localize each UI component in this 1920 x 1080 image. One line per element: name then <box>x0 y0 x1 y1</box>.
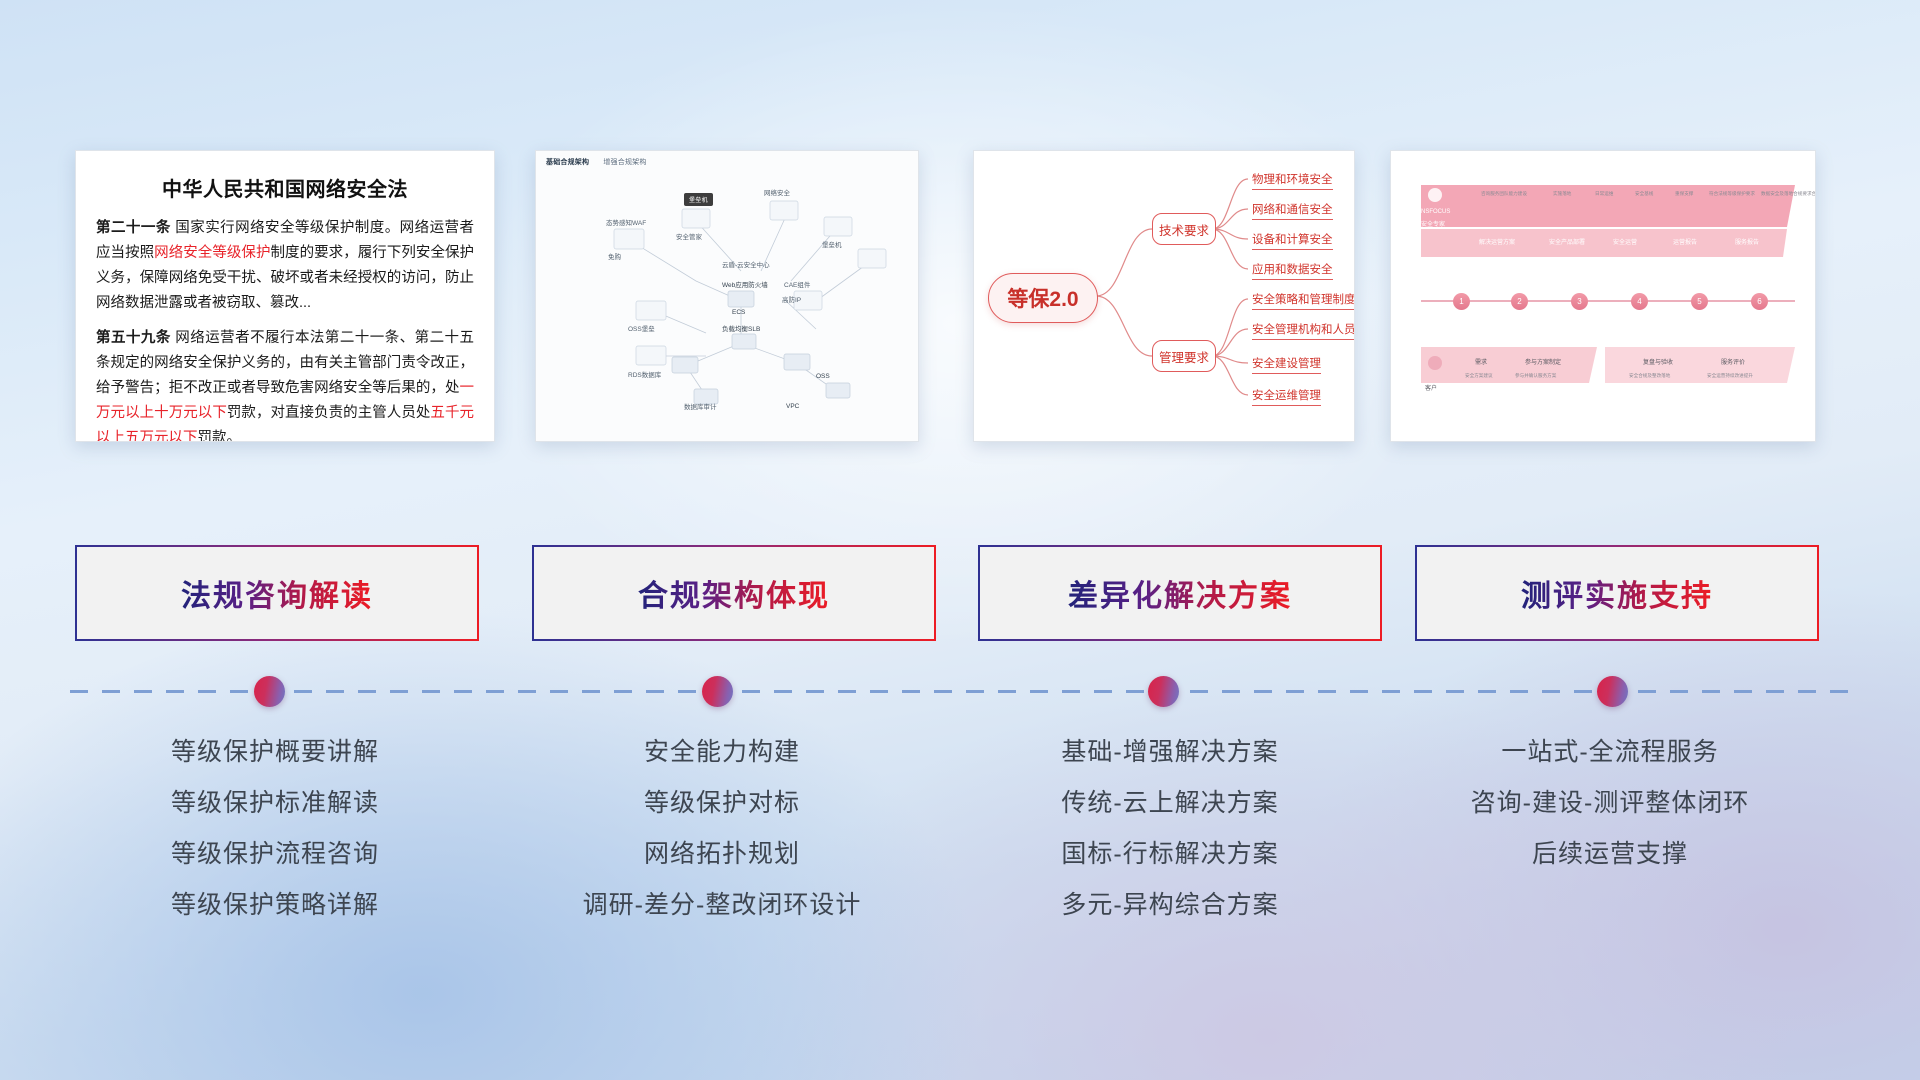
architecture-connectors <box>536 151 918 441</box>
mindmap-leaf-mgmt-1: 安全管理机构和人员 <box>1252 321 1355 340</box>
list-item: 等级保护策略详解 <box>65 893 485 918</box>
roadmap-step-3: 3 <box>1571 293 1588 310</box>
slide-canvas: 中华人民共和国网络安全法 第二十一条 国家实行网络安全等级保护制度。网络运营者应… <box>0 0 1920 1080</box>
law-paragraph-21: 第二十一条 国家实行网络安全等级保护制度。网络运营者应当按照网络安全等级保护制度… <box>96 216 474 316</box>
timeline-dot-1[interactable] <box>254 676 285 707</box>
timeline-dashed-line <box>70 690 1850 693</box>
card-cybersecurity-law[interactable]: 中华人民共和国网络安全法 第二十一条 国家实行网络安全等级保护制度。网络运营者应… <box>75 150 495 442</box>
roadmap-step-4: 4 <box>1631 293 1648 310</box>
timeline-dot-2[interactable] <box>702 676 733 707</box>
law-article-21-highlight: 网络安全等级保护 <box>154 245 270 261</box>
card-compliance-architecture[interactable]: 基础合规架构 增强合规架构 <box>535 150 919 442</box>
section-header-assessment-support[interactable]: 测评实施支持 <box>1415 545 1819 641</box>
section-header-compliance-architecture-label: 合规架构体现 <box>638 571 830 615</box>
list-item: 等级保护对标 <box>512 791 932 816</box>
law-article-59-text-c: 罚款。 <box>198 430 242 443</box>
mindmap-branch-management: 管理要求 <box>1152 340 1216 372</box>
roadmap-top-item-4: 重保支撑 <box>1675 191 1693 197</box>
roadmap-step-1: 1 <box>1453 293 1470 310</box>
law-article-59-label: 第五十九条 <box>96 330 171 346</box>
list-item: 调研-差分-整改闭环设计 <box>512 893 932 918</box>
detail-list-differentiated-solutions: 基础-增强解决方案 传统-云上解决方案 国标-行标解决方案 多元-异构综合方案 <box>960 740 1380 944</box>
mindmap-leaf-mgmt-0: 安全策略和管理制度 <box>1252 291 1355 310</box>
roadmap-mid-item-1: 安全产品部署 <box>1549 237 1585 246</box>
architecture-node-label-11: RDS数据库 <box>628 369 661 379</box>
roadmap-top-item-0: 咨询服务团队能力建设 <box>1481 191 1527 197</box>
mindmap-diagram: 等保2.0 技术要求 管理要求 物理和环境安全 网络和通信安全 设备和计算安全 … <box>974 151 1354 441</box>
section-header-compliance-architecture[interactable]: 合规架构体现 <box>532 545 936 641</box>
architecture-node-label-8: CAE组件 <box>784 279 810 289</box>
list-item: 咨询-建设-测评整体闭环 <box>1400 791 1820 816</box>
architecture-node-label-5: Web应用防火墙 <box>722 279 768 289</box>
roadmap-bottom-item-1: 参与方案制定 <box>1525 357 1561 366</box>
roadmap-step-6: 6 <box>1751 293 1768 310</box>
roadmap-top-item-1: 实施落地 <box>1553 191 1571 197</box>
card-service-roadmap[interactable]: NSFOCUS 安全专家 客户 咨询服务团队能力建设 实施落地 日常运维 安全基… <box>1390 150 1816 442</box>
roadmap-top-item-6: 数据安全及落地合规要求合规建设 <box>1761 191 1816 197</box>
list-item: 等级保护概要讲解 <box>65 740 485 765</box>
architecture-banner: 堡垒机 <box>684 193 713 206</box>
roadmap-step-2: 2 <box>1511 293 1528 310</box>
list-item: 基础-增强解决方案 <box>960 740 1380 765</box>
timeline-dot-4[interactable] <box>1597 676 1628 707</box>
section-header-differentiated-solutions-label: 差异化解决方案 <box>1068 571 1292 615</box>
architecture-node-label-9: 高防IP <box>782 294 801 304</box>
list-item: 多元-异构综合方案 <box>960 893 1380 918</box>
roadmap-mid-item-2: 安全运营 <box>1613 237 1637 246</box>
roadmap-diagram: NSFOCUS 安全专家 客户 咨询服务团队能力建设 实施落地 日常运维 安全基… <box>1391 151 1815 441</box>
law-article-21-label: 第二十一条 <box>96 220 171 236</box>
roadmap-bottom-tiny-0: 安全方案建议 <box>1465 373 1493 379</box>
mindmap-leaf-tech-1: 网络和通信安全 <box>1252 201 1333 220</box>
card-mindmap-dengbao[interactable]: 等保2.0 技术要求 管理要求 物理和环境安全 网络和通信安全 设备和计算安全 … <box>973 150 1355 442</box>
roadmap-brand: NSFOCUS <box>1421 209 1450 215</box>
architecture-node-label-3: 态势感知WAF <box>606 217 646 227</box>
architecture-node-label-10: OSS堡垒 <box>628 323 655 333</box>
list-item: 后续运营支撑 <box>1400 842 1820 867</box>
detail-list-assessment-support: 一站式-全流程服务 咨询-建设-测评整体闭环 后续运营支撑 <box>1400 740 1820 893</box>
roadmap-customer-label: 客户 <box>1425 383 1437 392</box>
section-header-legal-consulting-label: 法规咨询解读 <box>181 571 373 615</box>
list-item: 一站式-全流程服务 <box>1400 740 1820 765</box>
roadmap-mid-item-3: 运营报告 <box>1673 237 1697 246</box>
mindmap-branch-technical: 技术要求 <box>1152 213 1216 245</box>
section-header-assessment-support-label: 测评实施支持 <box>1521 571 1713 615</box>
architecture-node-label-13: VPC <box>786 403 799 410</box>
mindmap-leaf-tech-2: 设备和计算安全 <box>1252 231 1333 250</box>
law-title: 中华人民共和国网络安全法 <box>96 173 474 202</box>
mindmap-leaf-tech-3: 应用和数据安全 <box>1252 261 1333 280</box>
architecture-node-label-4: 堡垒机 <box>822 239 842 249</box>
roadmap-bottom-item-0: 需求 <box>1475 357 1487 366</box>
roadmap-top-item-3: 安全基线 <box>1635 191 1653 197</box>
architecture-node-label-7: 负载均衡SLB <box>722 323 760 333</box>
roadmap-top-item-2: 日常运维 <box>1595 191 1613 197</box>
section-header-differentiated-solutions[interactable]: 差异化解决方案 <box>978 545 1382 641</box>
mindmap-leaf-mgmt-2: 安全建设管理 <box>1252 355 1321 374</box>
roadmap-brand-sub: 安全专家 <box>1421 219 1445 228</box>
roadmap-bottom-tiny-3: 安全运营持续改进提升 <box>1707 373 1753 379</box>
section-header-legal-consulting[interactable]: 法规咨询解读 <box>75 545 479 641</box>
detail-list-compliance-architecture: 安全能力构建 等级保护对标 网络拓扑规划 调研-差分-整改闭环设计 <box>512 740 932 944</box>
list-item: 传统-云上解决方案 <box>960 791 1380 816</box>
list-item: 国标-行标解决方案 <box>960 842 1380 867</box>
architecture-node-label-14: 数据库审计 <box>684 401 717 411</box>
roadmap-bottom-tiny-1: 参与并确认服务方案 <box>1515 373 1556 379</box>
preview-cards-row: 中华人民共和国网络安全法 第二十一条 国家实行网络安全等级保护制度。网络运营者应… <box>0 150 1920 450</box>
roadmap-mid-item-0: 解决运营方案 <box>1479 237 1515 246</box>
list-item: 安全能力构建 <box>512 740 932 765</box>
architecture-node-label-12: OSS <box>816 373 830 380</box>
architecture-node-label-0: 免购 <box>608 251 621 261</box>
timeline <box>0 672 1920 712</box>
roadmap-bottom-item-3: 服务评价 <box>1721 357 1745 366</box>
architecture-node-label-6: ECS <box>732 309 745 316</box>
roadmap-top-item-5: 符合法规等级保护要求 <box>1709 191 1755 197</box>
section-headers-row: 法规咨询解读 合规架构体现 差异化解决方案 测评实施支持 <box>0 545 1920 640</box>
roadmap-step-5: 5 <box>1691 293 1708 310</box>
list-item: 等级保护流程咨询 <box>65 842 485 867</box>
timeline-dot-3[interactable] <box>1148 676 1179 707</box>
architecture-node-label-15: 云盾-云安全中心 <box>722 259 770 269</box>
law-paragraph-59: 第五十九条 网络运营者不履行本法第二十一条、第二十五条规定的网络安全保护义务的，… <box>96 326 474 442</box>
mindmap-root: 等保2.0 <box>988 273 1098 323</box>
roadmap-bottom-item-2: 复盘与验收 <box>1643 357 1673 366</box>
law-text-block: 中华人民共和国网络安全法 第二十一条 国家实行网络安全等级保护制度。网络运营者应… <box>76 151 494 442</box>
mindmap-leaf-mgmt-3: 安全运维管理 <box>1252 387 1321 406</box>
architecture-node-label-2: 网络安全 <box>764 187 790 197</box>
roadmap-mid-item-4: 服务报告 <box>1735 237 1759 246</box>
list-item: 网络拓扑规划 <box>512 842 932 867</box>
architecture-diagram: 基础合规架构 增强合规架构 <box>536 151 918 441</box>
architecture-node-label-1: 安全管家 <box>676 231 702 241</box>
mindmap-leaf-tech-0: 物理和环境安全 <box>1252 171 1333 190</box>
detail-list-legal-consulting: 等级保护概要讲解 等级保护标准解读 等级保护流程咨询 等级保护策略详解 <box>65 740 485 944</box>
roadmap-bottom-tiny-2: 安全合规及整改落地 <box>1629 373 1670 379</box>
list-item: 等级保护标准解读 <box>65 791 485 816</box>
detail-lists-row: 等级保护概要讲解 等级保护标准解读 等级保护流程咨询 等级保护策略详解 安全能力… <box>0 740 1920 970</box>
law-article-59-text-b: 罚款，对直接负责的主管人员处 <box>227 405 431 421</box>
